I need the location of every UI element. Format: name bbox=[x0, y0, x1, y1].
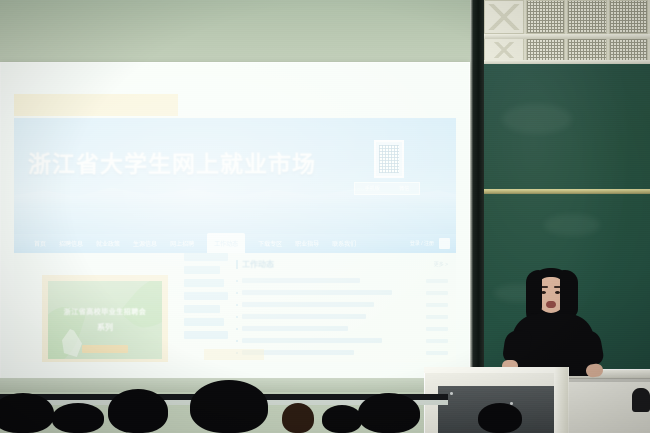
lectern-knob bbox=[450, 392, 453, 395]
news-item[interactable] bbox=[236, 302, 448, 307]
qr-code-icon bbox=[374, 140, 404, 178]
wall-column-divider bbox=[470, 0, 484, 400]
nav-item-8[interactable]: 联系我们 bbox=[332, 239, 356, 248]
news-section-header: 工作动态 更多 > bbox=[236, 259, 448, 270]
news-item[interactable] bbox=[236, 278, 448, 283]
presenter-arm-right bbox=[573, 328, 605, 368]
qr-caption-right: 微信 bbox=[399, 185, 409, 192]
news-item-date bbox=[426, 339, 448, 343]
presenter-hair-front-left bbox=[526, 270, 542, 314]
nav-item-3[interactable]: 生源信息 bbox=[133, 239, 157, 248]
lectern-knob bbox=[510, 402, 513, 405]
projection-screen: 浙江省大学生网上就业市场 手机版 微信 首页 招聘信息 就业政策 生源信息 网上… bbox=[0, 62, 470, 380]
news-item-title[interactable] bbox=[242, 314, 366, 319]
section-accent-bar bbox=[236, 260, 238, 269]
sidebar-item-5[interactable] bbox=[184, 318, 224, 326]
dark-object-foreground bbox=[632, 388, 650, 412]
sidebar-item-1[interactable] bbox=[184, 266, 220, 274]
news-item[interactable] bbox=[236, 326, 448, 331]
news-item[interactable] bbox=[236, 338, 448, 343]
sidebar-item-6[interactable] bbox=[184, 331, 228, 339]
menu-icon[interactable] bbox=[439, 238, 450, 249]
news-section-title: 工作动态 bbox=[242, 259, 274, 270]
nav-item-1[interactable]: 招聘信息 bbox=[59, 239, 83, 248]
ceiling-tile-vent bbox=[609, 38, 649, 62]
bullet-icon bbox=[236, 280, 238, 282]
ceiling-tile-vent bbox=[526, 38, 566, 62]
nav-item-5-active[interactable]: 工作动态 bbox=[207, 233, 245, 254]
lectern-side-panel bbox=[554, 367, 568, 433]
ceiling-tile-vent bbox=[567, 0, 607, 34]
sidebar-item-3[interactable] bbox=[184, 292, 228, 300]
nav-item-6[interactable]: 下载专区 bbox=[258, 239, 282, 248]
projected-slide: 浙江省大学生网上就业市场 手机版 微信 首页 招聘信息 就业政策 生源信息 网上… bbox=[14, 62, 456, 362]
nav-item-7[interactable]: 职业指导 bbox=[295, 239, 319, 248]
website-nav-bar[interactable]: 首页 招聘信息 就业政策 生源信息 网上招聘 工作动态 下载专区 职业指导 联系… bbox=[14, 234, 456, 253]
ceiling-beam bbox=[484, 34, 650, 39]
nav-login-label[interactable]: 登录 / 注册 bbox=[410, 240, 434, 247]
news-item-title[interactable] bbox=[242, 302, 374, 307]
presenter-mouth-open bbox=[546, 301, 556, 308]
ceiling-tile-vent bbox=[526, 0, 566, 34]
qr-caption-left: 手机版 bbox=[365, 185, 380, 192]
presenter-hand-right bbox=[585, 363, 604, 378]
ceiling-tile-vent bbox=[567, 38, 607, 62]
news-item-date bbox=[426, 303, 448, 307]
sidebar-menu[interactable] bbox=[184, 253, 228, 344]
bullet-icon bbox=[236, 316, 238, 318]
ceiling-tile-vent bbox=[609, 0, 649, 34]
news-item[interactable] bbox=[236, 350, 448, 355]
presenter bbox=[498, 268, 608, 378]
chalk-smudge bbox=[502, 104, 572, 134]
news-item-date bbox=[426, 291, 448, 295]
ceiling-tile-decorative bbox=[484, 0, 524, 34]
bullet-icon bbox=[236, 292, 238, 294]
sidebar-item-2[interactable] bbox=[184, 279, 224, 287]
chalk-smudge bbox=[544, 214, 600, 236]
news-item[interactable] bbox=[236, 314, 448, 319]
news-item-date bbox=[426, 351, 448, 355]
sidebar-item-4[interactable] bbox=[184, 305, 220, 313]
news-item-date bbox=[426, 315, 448, 319]
chalkboard-rail bbox=[484, 189, 650, 194]
slide-title: 浙江省大学生网上就业市场 bbox=[28, 154, 316, 177]
sidebar-item-0[interactable] bbox=[184, 253, 228, 261]
news-item-title[interactable] bbox=[242, 290, 392, 295]
nav-item-2[interactable]: 就业政策 bbox=[96, 239, 120, 248]
ceiling-row-lower bbox=[484, 38, 650, 62]
news-item-title[interactable] bbox=[242, 278, 360, 283]
bullet-icon bbox=[236, 328, 238, 330]
news-list: 工作动态 更多 > bbox=[236, 259, 448, 362]
ceiling-tile-decorative bbox=[484, 38, 524, 62]
qr-caption: 手机版 微信 bbox=[354, 182, 420, 195]
poster-signup-button[interactable] bbox=[82, 345, 128, 353]
upper-wall-strip bbox=[0, 0, 478, 62]
nav-right-group[interactable]: 登录 / 注册 bbox=[410, 238, 450, 249]
news-item-title[interactable] bbox=[242, 338, 382, 343]
lectern-front-panel bbox=[438, 386, 554, 433]
bullet-icon bbox=[236, 340, 238, 342]
slide-accent-band bbox=[14, 94, 178, 116]
poster-line-1: 浙江省高校毕业生招聘会 bbox=[64, 307, 147, 317]
ledge-shadow bbox=[556, 378, 650, 382]
nav-item-0[interactable]: 首页 bbox=[34, 239, 46, 248]
ceiling-vent-panels bbox=[484, 0, 650, 62]
ceiling-row-upper bbox=[484, 0, 650, 34]
website-body: 浙江省高校毕业生招聘会 系列 工作动态 更多 > bbox=[14, 253, 456, 362]
lecture-hall-photo: 浙江省大学生网上就业市场 手机版 微信 首页 招聘信息 就业政策 生源信息 网上… bbox=[0, 0, 650, 433]
page-footer-banner bbox=[204, 349, 264, 360]
screen-bottom-edge bbox=[0, 378, 472, 392]
poster-card[interactable]: 浙江省高校毕业生招聘会 系列 bbox=[42, 275, 168, 362]
news-item-date bbox=[426, 327, 448, 331]
bullet-icon bbox=[236, 304, 238, 306]
lectern-top-surface bbox=[424, 367, 568, 373]
news-item-date bbox=[426, 279, 448, 283]
presenter-hair-front-right bbox=[560, 270, 578, 318]
news-item[interactable] bbox=[236, 290, 448, 295]
news-more-link[interactable]: 更多 > bbox=[434, 261, 448, 268]
poster-line-2: 系列 bbox=[97, 322, 113, 333]
nav-item-4[interactable]: 网上招聘 bbox=[170, 239, 194, 248]
website-hero-banner: 浙江省大学生网上就业市场 手机版 微信 bbox=[14, 118, 456, 234]
poster-inner: 浙江省高校毕业生招聘会 系列 bbox=[48, 281, 162, 359]
news-item-title[interactable] bbox=[242, 326, 348, 331]
qr-code-pattern bbox=[379, 145, 399, 173]
